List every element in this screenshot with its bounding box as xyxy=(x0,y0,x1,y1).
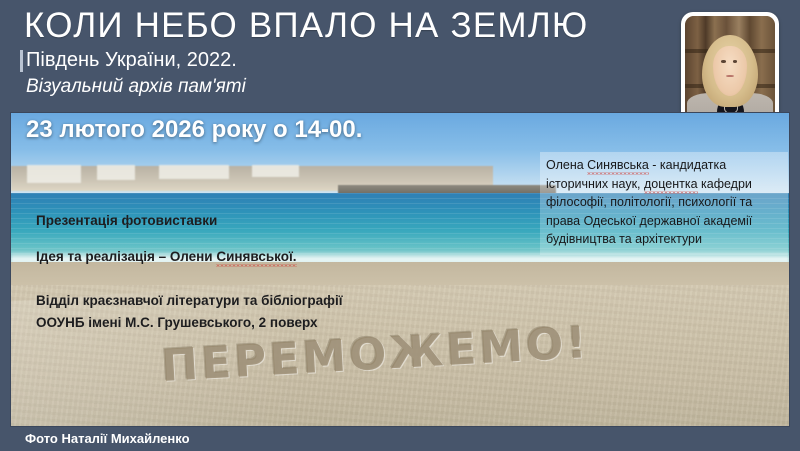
event-details-block: Презентація фотовиставки Ідея та реаліза… xyxy=(36,212,436,350)
author-surname-misspelled: Синявської. xyxy=(216,249,296,269)
event-detail-venue: ООУНБ імені М.С. Грушевського, 2 поверх xyxy=(36,314,436,332)
event-detail-department: Відділ краєзнавчої літератури та бібліог… xyxy=(36,292,436,310)
shoreline-building xyxy=(252,165,299,178)
presentation-slide: КОЛИ НЕБО ВПАЛО НА ЗЕМЛЮ Південь України… xyxy=(0,0,800,451)
event-detail-author: Ідея та реалізація – Олени Синявської. xyxy=(36,248,436,266)
event-detail-presentation: Презентація фотовиставки xyxy=(36,212,436,230)
text-cursor xyxy=(20,50,23,72)
shoreline-building xyxy=(27,165,81,184)
slide-footer: Фото Наталії Михайленко xyxy=(0,427,800,451)
photo-credit: Фото Наталії Михайленко xyxy=(25,430,190,448)
mouth xyxy=(726,75,733,77)
left-margin xyxy=(0,0,10,451)
slide-subtitle-tagline: Візуальний архів пам'яті xyxy=(26,74,246,99)
eye-left xyxy=(721,60,726,63)
event-date-time: 23 лютого 2026 року о 14-00. xyxy=(26,115,362,145)
right-margin xyxy=(790,0,800,451)
speaker-bio-panel: Олена Синявська - кандидатка історичних … xyxy=(540,152,788,255)
shoreline-building xyxy=(97,165,136,181)
shoreline-building xyxy=(159,165,229,179)
bio-title-misspelled: доцентка xyxy=(644,177,698,196)
slide-header: КОЛИ НЕБО ВПАЛО НА ЗЕМЛЮ Південь України… xyxy=(0,0,800,112)
speaker-bio-text: Олена Синявська - кандидатка історичних … xyxy=(546,156,782,249)
slide-subtitle-location-year: Південь України, 2022. xyxy=(26,47,237,73)
bio-part-1: Олена xyxy=(546,158,587,172)
bio-surname-misspelled: Синявська xyxy=(587,158,649,177)
slide-title: КОЛИ НЕБО ВПАЛО НА ЗЕМЛЮ xyxy=(24,6,588,46)
author-prefix: Ідея та реалізація – Олени xyxy=(36,249,216,264)
